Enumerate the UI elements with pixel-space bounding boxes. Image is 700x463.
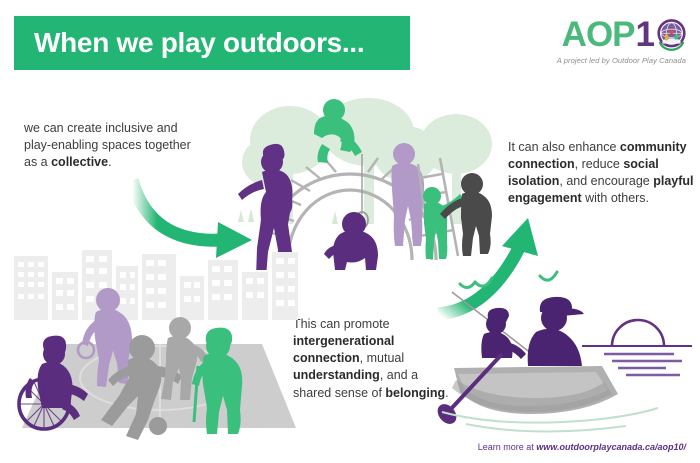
copy-right-seg1: It can also enhance xyxy=(508,140,620,154)
footer-prefix: Learn more at xyxy=(478,442,537,452)
logo-wordmark-one: 1 xyxy=(636,17,654,52)
figure-adult-with-cap-purple xyxy=(528,297,584,366)
copy-left-line3-bold: collective xyxy=(51,155,108,169)
sunset-icon xyxy=(582,320,692,346)
copy-mid-bold2: understanding xyxy=(293,368,380,382)
soccer-ball-icon xyxy=(149,417,167,435)
footer-url[interactable]: www.outdoorplaycanada.ca/aop10/ xyxy=(536,442,686,452)
copy-left-line3-suffix: . xyxy=(108,155,111,169)
copy-right-seg3: , and encourage xyxy=(559,174,653,188)
arrow-shaft-icon xyxy=(132,180,222,240)
copy-right-seg2: , reduce xyxy=(575,157,624,171)
figure-child-fishing-purple xyxy=(481,308,526,359)
outdoor-play-canada-emblem-icon xyxy=(655,18,688,51)
water-reflection-lines xyxy=(604,354,682,375)
footer-learn-more[interactable]: Learn more at www.outdoorplaycanada.ca/a… xyxy=(478,442,686,452)
fishing-boat-scene xyxy=(436,262,700,434)
copy-block-left: we can create inclusive and play-enablin… xyxy=(24,120,234,171)
copy-right-seg4: with others. xyxy=(582,191,649,205)
copy-left-line2: play-enabling spaces together xyxy=(24,138,191,152)
copy-left-line3-prefix: as a xyxy=(24,155,51,169)
logo-tagline: A project led by Outdoor Play Canada xyxy=(508,56,688,65)
arrow-head-icon xyxy=(502,218,538,256)
copy-mid-seg1: This can promote xyxy=(293,317,390,331)
aop10-logo: AOP 1 xyxy=(508,14,688,76)
logo-wordmark-aop: AOP xyxy=(562,17,635,52)
birds-icon xyxy=(460,272,557,288)
title-banner: When we play outdoors... xyxy=(14,16,410,70)
copy-left-line1: we can create inclusive and xyxy=(24,121,178,135)
copy-mid-seg2: , mutual xyxy=(360,351,404,365)
page-title: When we play outdoors... xyxy=(14,29,364,57)
infographic-poster: When we play outdoors... AOP 1 xyxy=(0,0,700,463)
urban-court-scene xyxy=(0,250,300,440)
rowboat-icon xyxy=(452,366,618,414)
copy-block-middle: This can promote intergenerational conne… xyxy=(293,316,458,402)
